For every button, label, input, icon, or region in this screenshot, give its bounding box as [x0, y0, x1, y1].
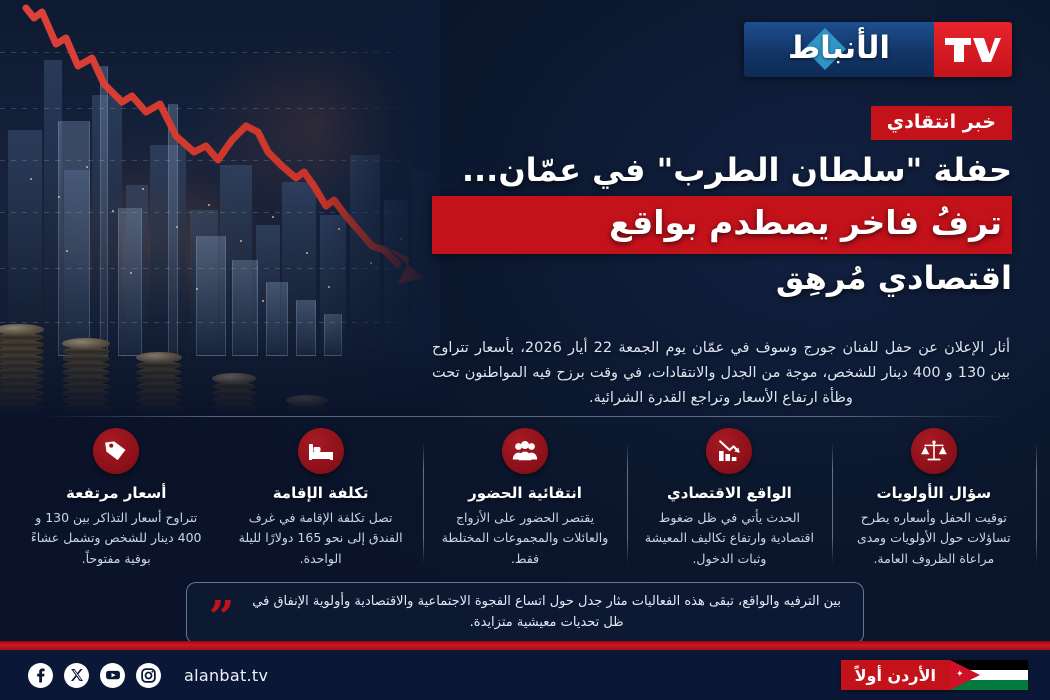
instagram-icon[interactable] — [136, 663, 161, 688]
fact-card-body: يقتصر الحضور على الأزواج والعائلات والمج… — [435, 508, 615, 569]
quotation-mark-icon: ” — [209, 594, 234, 630]
website-url[interactable]: alanbat.tv — [184, 666, 268, 685]
youtube-icon[interactable] — [100, 663, 125, 688]
fact-card-accommodation: تكلفة الإقامة تصل تكلفة الإقامة في غرف ا… — [218, 428, 422, 569]
price-tag-icon — [93, 428, 139, 474]
section-divider — [42, 416, 1008, 417]
scales-balance-icon — [911, 428, 957, 474]
social-links: alanbat.tv — [28, 663, 268, 688]
headline-line-3: اقتصادي مُرهِق — [432, 256, 1012, 300]
fact-card-body: توقيت الحفل وأسعاره يطرح تساؤلات حول الأ… — [844, 508, 1024, 569]
quote-box: ” بين الترفيه والواقع، تبقى هذه الفعاليا… — [186, 582, 864, 644]
brand-name-block: الأنباط — [744, 22, 934, 77]
tv-letters-icon — [943, 35, 1003, 65]
fact-card-title: انتقائية الحضور — [435, 484, 615, 502]
declining-chart-icon — [706, 428, 752, 474]
lead-paragraph: أثار الإعلان عن حفل للفنان جورج وسوف في … — [432, 336, 1010, 411]
fact-card-body: الحدث يأتي في ظل ضغوط اقتصادية وارتفاع ت… — [639, 508, 819, 569]
fact-card-body: تتراوح أسعار التذاكر بين 130 و 400 دينار… — [26, 508, 206, 569]
footer-red-bar — [0, 641, 1050, 650]
hero-image — [0, 0, 440, 418]
fact-card-title: سؤال الأولويات — [844, 484, 1024, 502]
footer: alanbat.tv الأردن أولاً ✦ — [0, 650, 1050, 700]
brand-name-text: الأنباط — [788, 30, 890, 66]
x-twitter-icon[interactable] — [64, 663, 89, 688]
bed-icon — [298, 428, 344, 474]
fact-card-attendance: انتقائية الحضور يقتصر الحضور على الأزواج… — [423, 428, 627, 569]
headline: حفلة "سلطان الطرب" في عمّان... ترفُ فاخر… — [432, 148, 1012, 300]
jordan-first-badge: الأردن أولاً ✦ — [841, 660, 1028, 690]
fact-card-priorities: سؤال الأولويات توقيت الحفل وأسعاره يطرح … — [832, 428, 1036, 569]
people-group-icon — [502, 428, 548, 474]
brand-logo[interactable]: الأنباط — [744, 22, 1012, 77]
fact-card-economy: الواقع الاقتصادي الحدث يأتي في ظل ضغوط ا… — [627, 428, 831, 569]
fact-card-prices: أسعار مرتفعة تتراوح أسعار التذاكر بين 13… — [14, 428, 218, 569]
tv-logo-block — [934, 22, 1012, 77]
infographic-page: الأنباط خبر انتقادي حفلة "سلطان الطرب" ف… — [0, 0, 1050, 700]
critical-news-badge: خبر انتقادي — [871, 106, 1012, 140]
fact-card-body: تصل تكلفة الإقامة في غرف الفندق إلى نحو … — [230, 508, 410, 569]
fact-card-title: تكلفة الإقامة — [230, 484, 410, 502]
facts-cards: أسعار مرتفعة تتراوح أسعار التذاكر بين 13… — [14, 428, 1036, 569]
headline-band: ترفُ فاخر يصطدم بواقع — [432, 196, 1012, 254]
jordan-slogan-text: الأردن أولاً — [841, 660, 950, 690]
jordan-flag-icon: ✦ — [950, 660, 1028, 690]
facebook-icon[interactable] — [28, 663, 53, 688]
hero-bottom-fade — [0, 348, 440, 418]
quote-text: بين الترفيه والواقع، تبقى هذه الفعاليات … — [244, 591, 849, 633]
fact-card-title: الواقع الاقتصادي — [639, 484, 819, 502]
fact-card-title: أسعار مرتفعة — [26, 484, 206, 502]
headline-line-1: حفلة "سلطان الطرب" في عمّان... — [432, 148, 1012, 192]
